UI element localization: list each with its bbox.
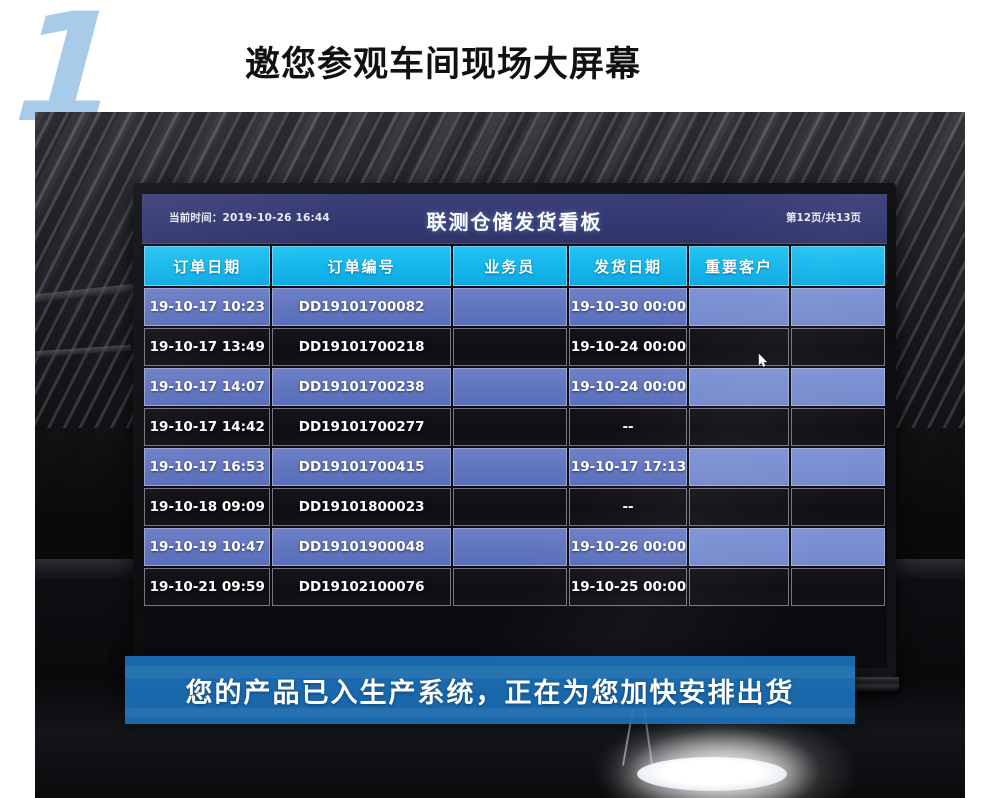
cell-order-no: DD19101900048 bbox=[272, 528, 450, 566]
cell-order-date: 19-10-21 09:59 bbox=[144, 568, 270, 606]
cell-ship-date: 19-10-24 00:00 bbox=[569, 328, 687, 366]
cell-ship-date: 19-10-24 00:00 bbox=[569, 368, 687, 406]
cell-order-no: DD19101800023 bbox=[272, 488, 450, 526]
cell-salesperson bbox=[453, 528, 567, 566]
cell-extra bbox=[791, 528, 885, 566]
cell-key-customer bbox=[689, 408, 788, 446]
cell-ship-date: -- bbox=[569, 488, 687, 526]
cell-key-customer bbox=[689, 448, 788, 486]
cell-extra bbox=[791, 488, 885, 526]
cell-extra bbox=[791, 568, 885, 606]
table-row: 19-10-17 14:07 DD19101700238 19-10-24 00… bbox=[144, 368, 885, 406]
column-header-ship-date: 发货日期 bbox=[569, 246, 687, 286]
cell-order-no: DD19101700218 bbox=[272, 328, 450, 366]
cell-order-date: 19-10-19 10:47 bbox=[144, 528, 270, 566]
cell-key-customer bbox=[689, 368, 788, 406]
cell-order-date: 19-10-17 13:49 bbox=[144, 328, 270, 366]
cell-order-no: DD19102100076 bbox=[272, 568, 450, 606]
table-row: 19-10-19 10:47 DD19101900048 19-10-26 00… bbox=[144, 528, 885, 566]
table-row: 19-10-21 09:59 DD19102100076 19-10-25 00… bbox=[144, 568, 885, 606]
cell-key-customer bbox=[689, 528, 788, 566]
cell-salesperson bbox=[453, 408, 567, 446]
cell-ship-date: 19-10-25 00:00 bbox=[569, 568, 687, 606]
cell-order-no: DD19101700277 bbox=[272, 408, 450, 446]
page-title: 邀您参观车间现场大屏幕 bbox=[245, 36, 641, 87]
cell-extra bbox=[791, 288, 885, 326]
cell-extra bbox=[791, 328, 885, 366]
cell-salesperson bbox=[453, 328, 567, 366]
column-header-order-date: 订单日期 bbox=[144, 246, 270, 286]
table-body: 19-10-17 10:23 DD19101700082 19-10-30 00… bbox=[144, 288, 885, 606]
table-row: 19-10-18 09:09 DD19101800023 -- bbox=[144, 488, 885, 526]
cell-order-date: 19-10-17 14:07 bbox=[144, 368, 270, 406]
cell-ship-date: 19-10-30 00:00 bbox=[569, 288, 687, 326]
cell-order-no: DD19101700238 bbox=[272, 368, 450, 406]
cell-key-customer bbox=[689, 488, 788, 526]
cell-key-customer bbox=[689, 568, 788, 606]
promo-banner: 您的产品已入生产系统，正在为您加快安排出货 bbox=[125, 656, 855, 724]
cell-salesperson bbox=[453, 368, 567, 406]
dashboard-title: 联测仓储发货看板 bbox=[142, 206, 887, 235]
dashboard-header: 当前时间：2019-10-26 16:44 联测仓储发货看板 第12页/共13页 bbox=[142, 194, 887, 244]
cell-salesperson bbox=[453, 448, 567, 486]
table-row: 19-10-17 13:49 DD19101700218 19-10-24 00… bbox=[144, 328, 885, 366]
cell-ship-date: -- bbox=[569, 408, 687, 446]
wall-display: 当前时间：2019-10-26 16:44 联测仓储发货看板 第12页/共13页… bbox=[133, 183, 896, 677]
banner-streak bbox=[125, 708, 855, 717]
ceiling-lamp-icon bbox=[637, 757, 787, 791]
table-row: 19-10-17 16:53 DD19101700415 19-10-17 17… bbox=[144, 448, 885, 486]
cell-extra bbox=[791, 368, 885, 406]
table-row: 19-10-17 10:23 DD19101700082 19-10-30 00… bbox=[144, 288, 885, 326]
cell-salesperson bbox=[453, 288, 567, 326]
cell-order-no: DD19101700415 bbox=[272, 448, 450, 486]
workshop-photo: 当前时间：2019-10-26 16:44 联测仓储发货看板 第12页/共13页… bbox=[35, 112, 965, 798]
cell-order-date: 19-10-18 09:09 bbox=[144, 488, 270, 526]
table-header-row: 订单日期 订单编号 业务员 发货日期 重要客户 bbox=[144, 246, 885, 286]
cell-order-no: DD19101700082 bbox=[272, 288, 450, 326]
cell-salesperson bbox=[453, 568, 567, 606]
cell-order-date: 19-10-17 10:23 bbox=[144, 288, 270, 326]
cell-ship-date: 19-10-26 00:00 bbox=[569, 528, 687, 566]
cell-key-customer bbox=[689, 328, 788, 366]
column-header-order-no: 订单编号 bbox=[272, 246, 450, 286]
cell-order-date: 19-10-17 16:53 bbox=[144, 448, 270, 486]
cell-order-date: 19-10-17 14:42 bbox=[144, 408, 270, 446]
column-header-salesperson: 业务员 bbox=[453, 246, 567, 286]
banner-streak bbox=[125, 666, 855, 678]
cell-salesperson bbox=[453, 488, 567, 526]
cell-ship-date: 19-10-17 17:13 bbox=[569, 448, 687, 486]
cell-key-customer bbox=[689, 288, 788, 326]
table-row: 19-10-17 14:42 DD19101700277 -- bbox=[144, 408, 885, 446]
column-header-key-customer: 重要客户 bbox=[689, 246, 788, 286]
shipment-board-table: 订单日期 订单编号 业务员 发货日期 重要客户 19-10-17 10:23 D… bbox=[142, 244, 887, 608]
tv-screen: 当前时间：2019-10-26 16:44 联测仓储发货看板 第12页/共13页… bbox=[142, 194, 887, 668]
column-header-extra bbox=[791, 246, 885, 286]
page-indicator: 第12页/共13页 bbox=[786, 210, 861, 225]
cell-extra bbox=[791, 408, 885, 446]
cell-extra bbox=[791, 448, 885, 486]
